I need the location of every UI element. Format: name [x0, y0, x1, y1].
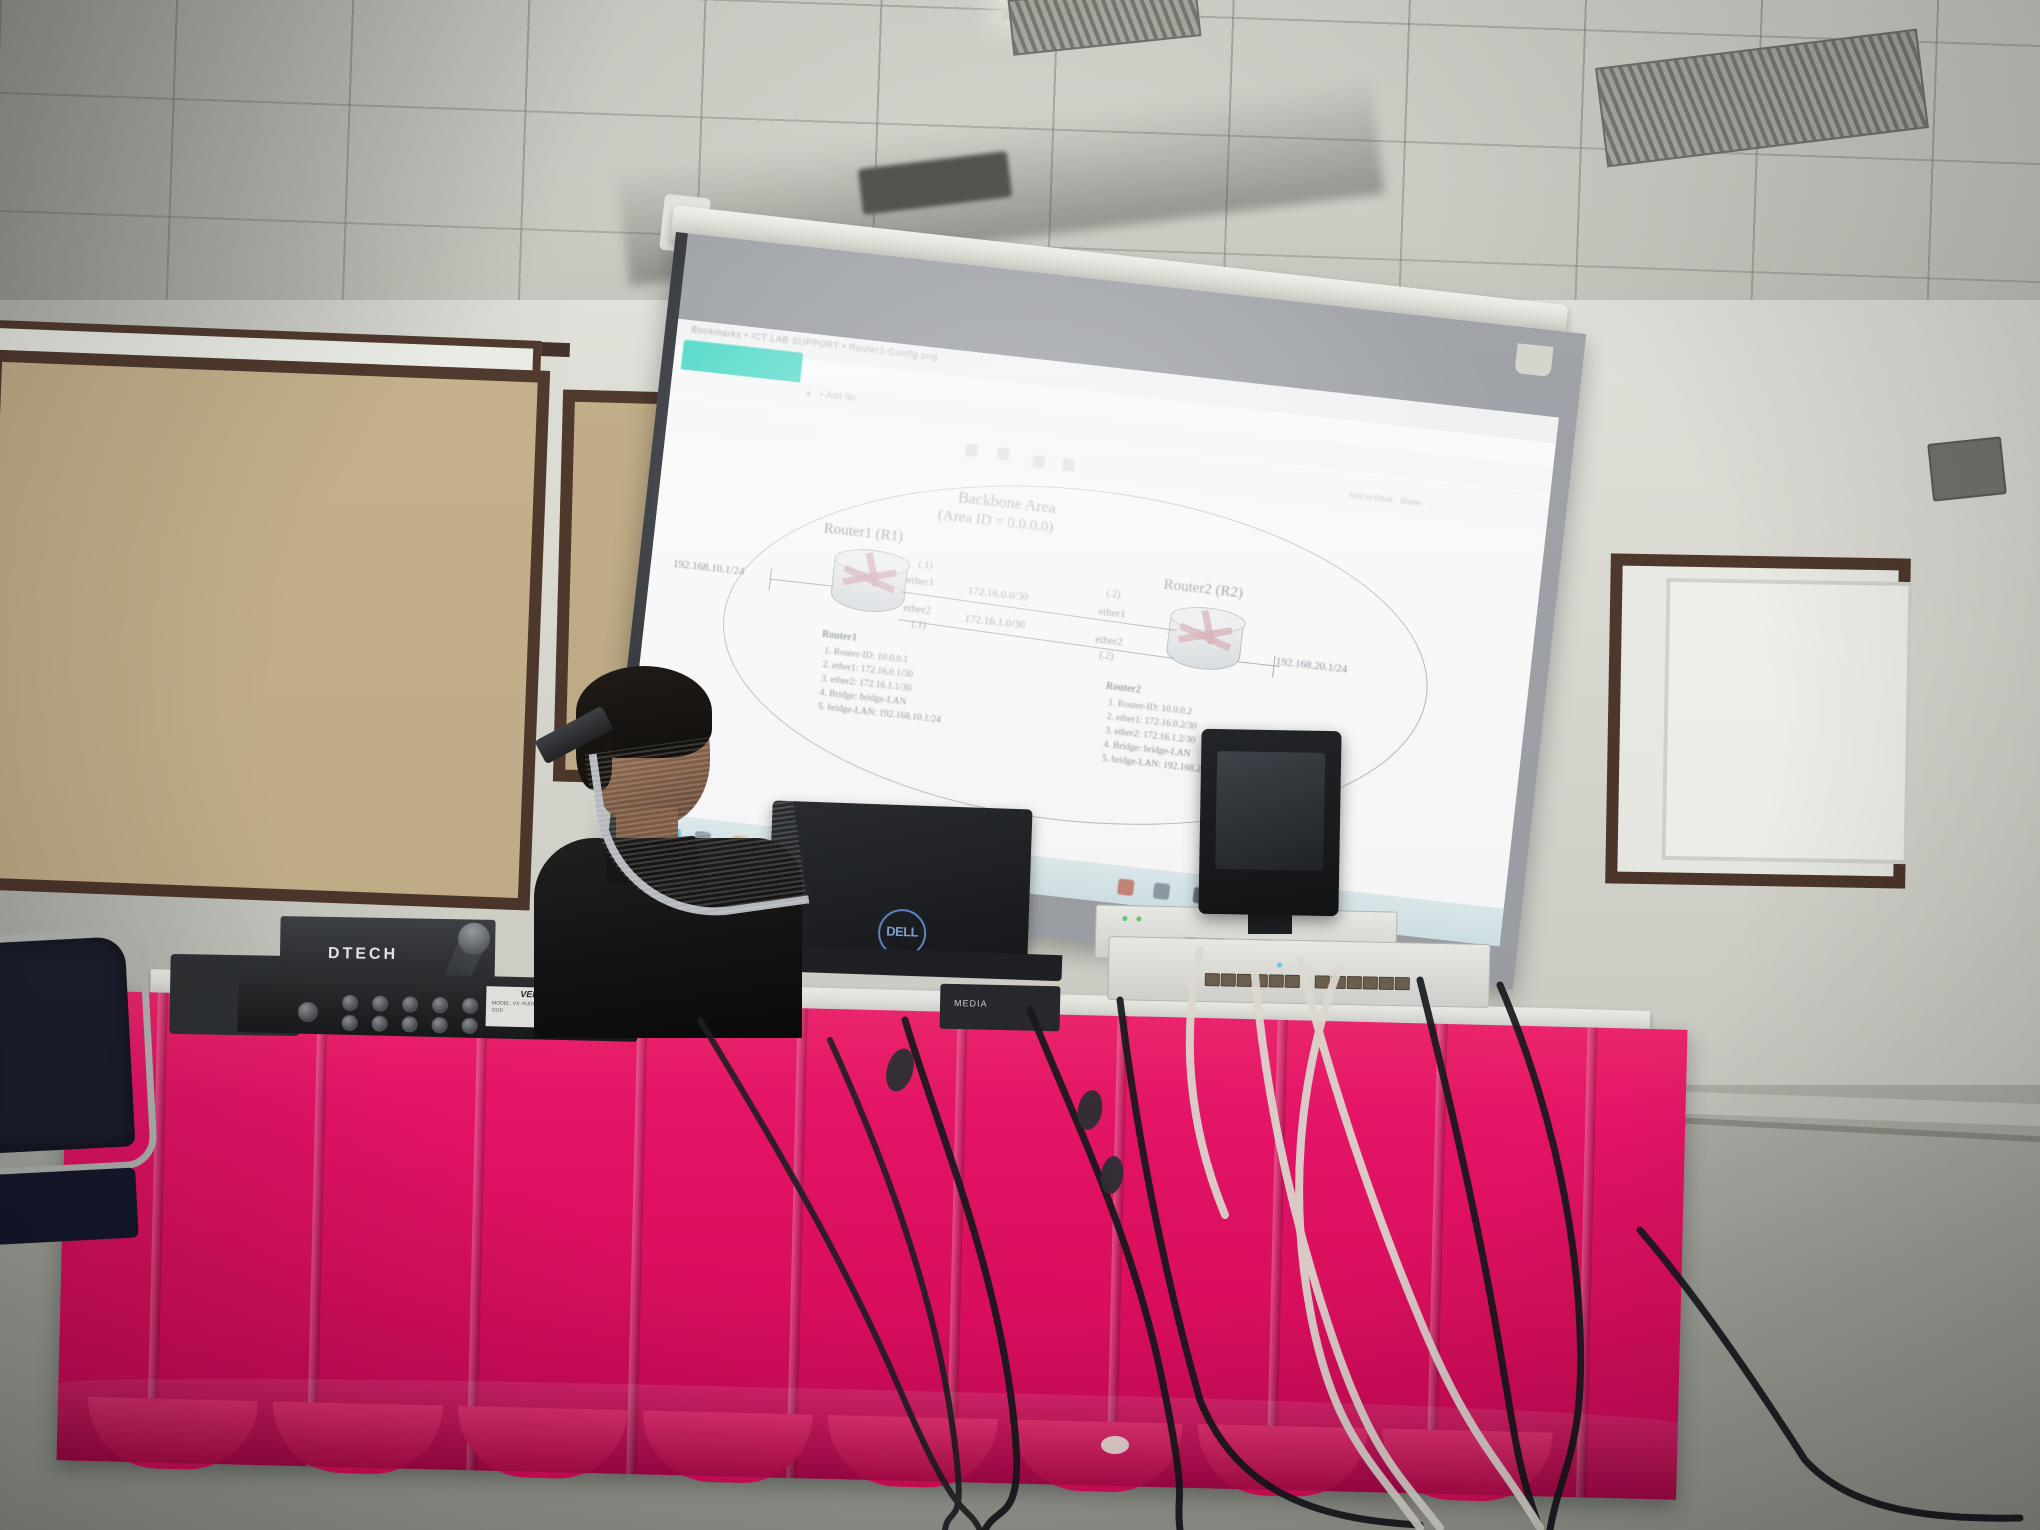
zoom-out-icon[interactable] [1032, 455, 1045, 468]
link1-left-tag: (.1) [918, 559, 933, 572]
winbox-icon[interactable] [1117, 878, 1135, 896]
gooseneck-coil-texture [585, 727, 808, 929]
dtech-brand-label: DTECH [328, 945, 398, 964]
print-icon[interactable] [997, 447, 1010, 460]
lan-left-address: 192.168.10.1/24 [672, 558, 745, 578]
link1-right-tag: (.2) [1106, 588, 1121, 601]
media-box-label: MEDIA [954, 998, 988, 1009]
whiteboard-right-surface [1662, 578, 1913, 864]
ceiling-corner-shade [0, 0, 760, 330]
stacking-chair [0, 940, 170, 1270]
wall-speaker [1927, 436, 2007, 501]
lcd-monitor [1198, 729, 1341, 916]
gooseneck-microphone[interactable] [600, 740, 850, 940]
black-media-box: MEDIA [940, 984, 1061, 1032]
screen-pull-knob[interactable] [1515, 343, 1554, 377]
link2-right-tag: (.2) [1099, 650, 1114, 663]
zoom-in-icon[interactable] [1062, 459, 1075, 472]
search-icon[interactable] [965, 444, 978, 457]
classroom-photo-scene: Bookmarks • ICT LAB SUPPORT • Router1-Co… [0, 0, 2040, 1530]
router2-icon [1165, 604, 1245, 674]
network-switch-lower [1107, 936, 1490, 1008]
monitor-screen [1215, 751, 1325, 871]
settings-icon[interactable] [1153, 882, 1171, 900]
router1-icon [829, 546, 909, 616]
table-skirt [57, 990, 1688, 1499]
corkboard-left [0, 349, 550, 910]
